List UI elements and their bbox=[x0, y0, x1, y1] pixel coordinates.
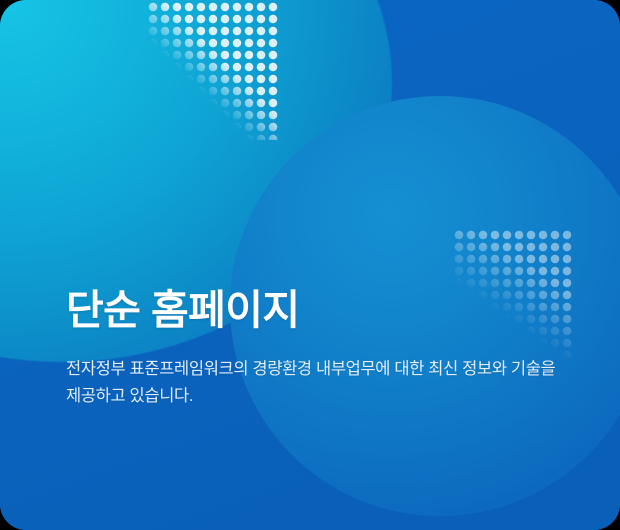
hero-subtitle: 전자정부 표준프레임워크의 경량환경 내부업무에 대한 최신 정보와 기술을 제… bbox=[66, 356, 566, 409]
hero-content: 단순 홈페이지 전자정부 표준프레임워크의 경량환경 내부업무에 대한 최신 정… bbox=[66, 286, 566, 410]
dot-grid-pattern-top bbox=[146, 0, 278, 140]
page-title: 단순 홈페이지 bbox=[66, 286, 566, 334]
hero-banner: 단순 홈페이지 전자정부 표준프레임워크의 경량환경 내부업무에 대한 최신 정… bbox=[0, 0, 620, 530]
